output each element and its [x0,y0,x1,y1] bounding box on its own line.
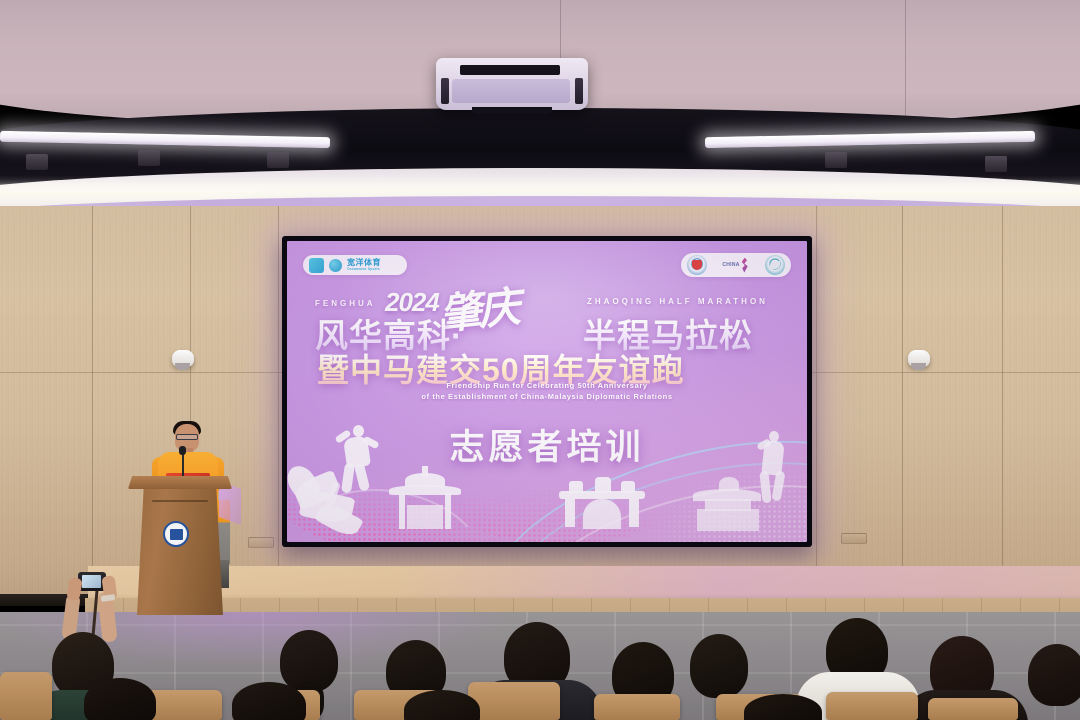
wall-panel-seam [816,206,817,606]
athletics-association-seal-icon [687,255,707,275]
camera-screen [82,575,101,588]
wall-mounted-speaker-right [908,350,930,367]
audience-head [232,682,306,720]
linear-ceiling-light [705,131,1035,148]
zhao-seal-logo-icon [309,258,324,273]
ceiling-ac-cassette-icon [436,58,588,110]
emblem-inner-mark [170,529,183,540]
podium-top-surface [128,476,232,489]
wall-panel-seam [1002,206,1003,606]
ceiling-seam [905,0,906,125]
title-pinyin-left: FENGHUA [315,299,376,308]
microphone-head [179,446,186,455]
led-wall-screen[interactable]: 宽洋体育 Oceanwide Sports CHINA FENGHUA [282,236,812,547]
wall-mounted-speaker-left [172,350,194,367]
sponsor-brand-en: Oceanwide Sports [347,268,381,271]
wall-panel-seam [278,206,279,606]
ceiling-vent [267,152,289,168]
ceiling-vent [825,152,847,168]
institution-emblem-icon [163,521,189,547]
china-athletics-mark-icon: CHINA [722,258,749,273]
audience-chair[interactable] [928,698,1018,720]
sports-bureau-seal-icon [765,255,785,275]
presenter-glasses [176,434,198,440]
ceiling-vent [26,154,48,170]
ac-face-panel [452,79,570,103]
audience-head [1028,644,1080,706]
sponsor-badge-left[interactable]: 宽洋体育 Oceanwide Sports [303,255,407,275]
podium-groove [152,500,208,502]
wall-outlet-plate [248,537,274,548]
presentation-slide: 宽洋体育 Oceanwide Sports CHINA FENGHUA [287,241,807,542]
title-subtitle-en-2: of the Establishment of China-Malaysia D… [287,392,807,401]
sponsor-badge-right[interactable]: CHINA [681,253,791,277]
audience-chair[interactable] [0,672,52,720]
linear-ceiling-light [0,131,330,148]
auditorium-scene: 宽洋体育 Oceanwide Sports CHINA FENGHUA [0,0,1080,720]
podium-body [137,484,223,615]
ceiling-vent [138,150,160,166]
sponsor-brand-cn: 宽洋体育 [347,259,381,267]
ac-fin [441,78,449,104]
audience-chair[interactable] [594,694,680,720]
wall-outlet-plate [841,533,867,544]
audience-chair[interactable] [826,692,918,720]
oceanwide-mark-icon [329,259,342,272]
audience-head [84,678,156,720]
ac-fin [575,78,583,104]
audience-head [690,634,748,698]
ac-intake-slot [460,65,560,75]
ac-lower-shadow [472,107,552,114]
wall-panel-seam [902,206,903,606]
wall-panel-seam [92,206,93,606]
slide-headline: 志愿者培训 [287,419,807,470]
title-subtitle-en-1: Friendship Run for Celebrating 50th Anni… [287,381,807,390]
ceiling-vent [985,156,1007,172]
title-pinyin-right: ZHAOQING HALF MARATHON [587,297,768,306]
audience-chair[interactable] [468,682,560,720]
